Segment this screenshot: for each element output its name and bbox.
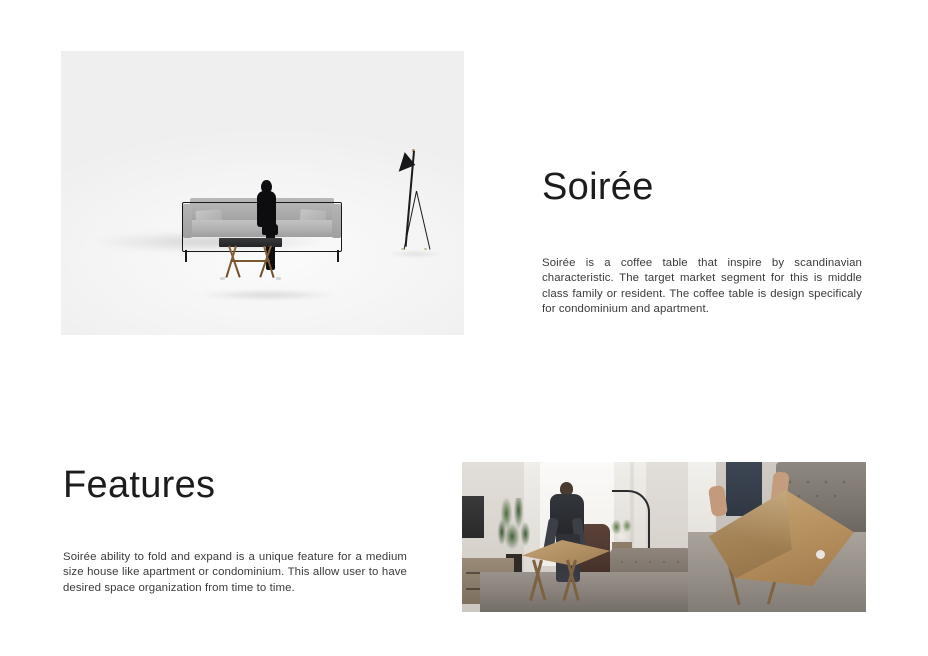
page-title: Soirée — [542, 168, 862, 208]
tripod-floor-lamp — [395, 147, 437, 255]
table-foot — [220, 277, 225, 280]
table-cross-brace — [231, 260, 270, 262]
hero-image — [61, 51, 464, 335]
presentation-page: Soirée Soirée is a coffee table that ins… — [0, 0, 928, 656]
table-caster-wheel — [816, 550, 825, 559]
sofa-shadow — [173, 289, 363, 301]
intro-paragraph: Soirée is a coffee table that inspire by… — [542, 256, 862, 318]
soiree-coffee-table — [219, 238, 282, 279]
features-title: Features — [63, 466, 407, 506]
folded-tabletop-closeup-photo — [688, 462, 866, 612]
sofa-leg-left — [185, 250, 187, 262]
features-text-block: Features Soirée ability to fold and expa… — [63, 466, 407, 506]
lamp-leg — [416, 191, 431, 250]
sofa-leg-right — [337, 250, 339, 262]
intro-text-block: Soirée Soirée is a coffee table that ins… — [542, 168, 862, 208]
folding-demonstration-photo — [462, 462, 688, 612]
table-leg-frame — [524, 560, 586, 602]
lamp-leg — [404, 191, 418, 250]
television — [462, 496, 484, 538]
potted-plant — [495, 498, 533, 560]
feature-image-gallery — [462, 462, 866, 612]
table-foot — [276, 277, 281, 280]
features-paragraph: Soirée ability to fold and expand is a u… — [63, 550, 407, 596]
lamp-foot — [401, 248, 404, 250]
person-torso — [257, 191, 276, 227]
lamp-foot — [424, 248, 427, 250]
